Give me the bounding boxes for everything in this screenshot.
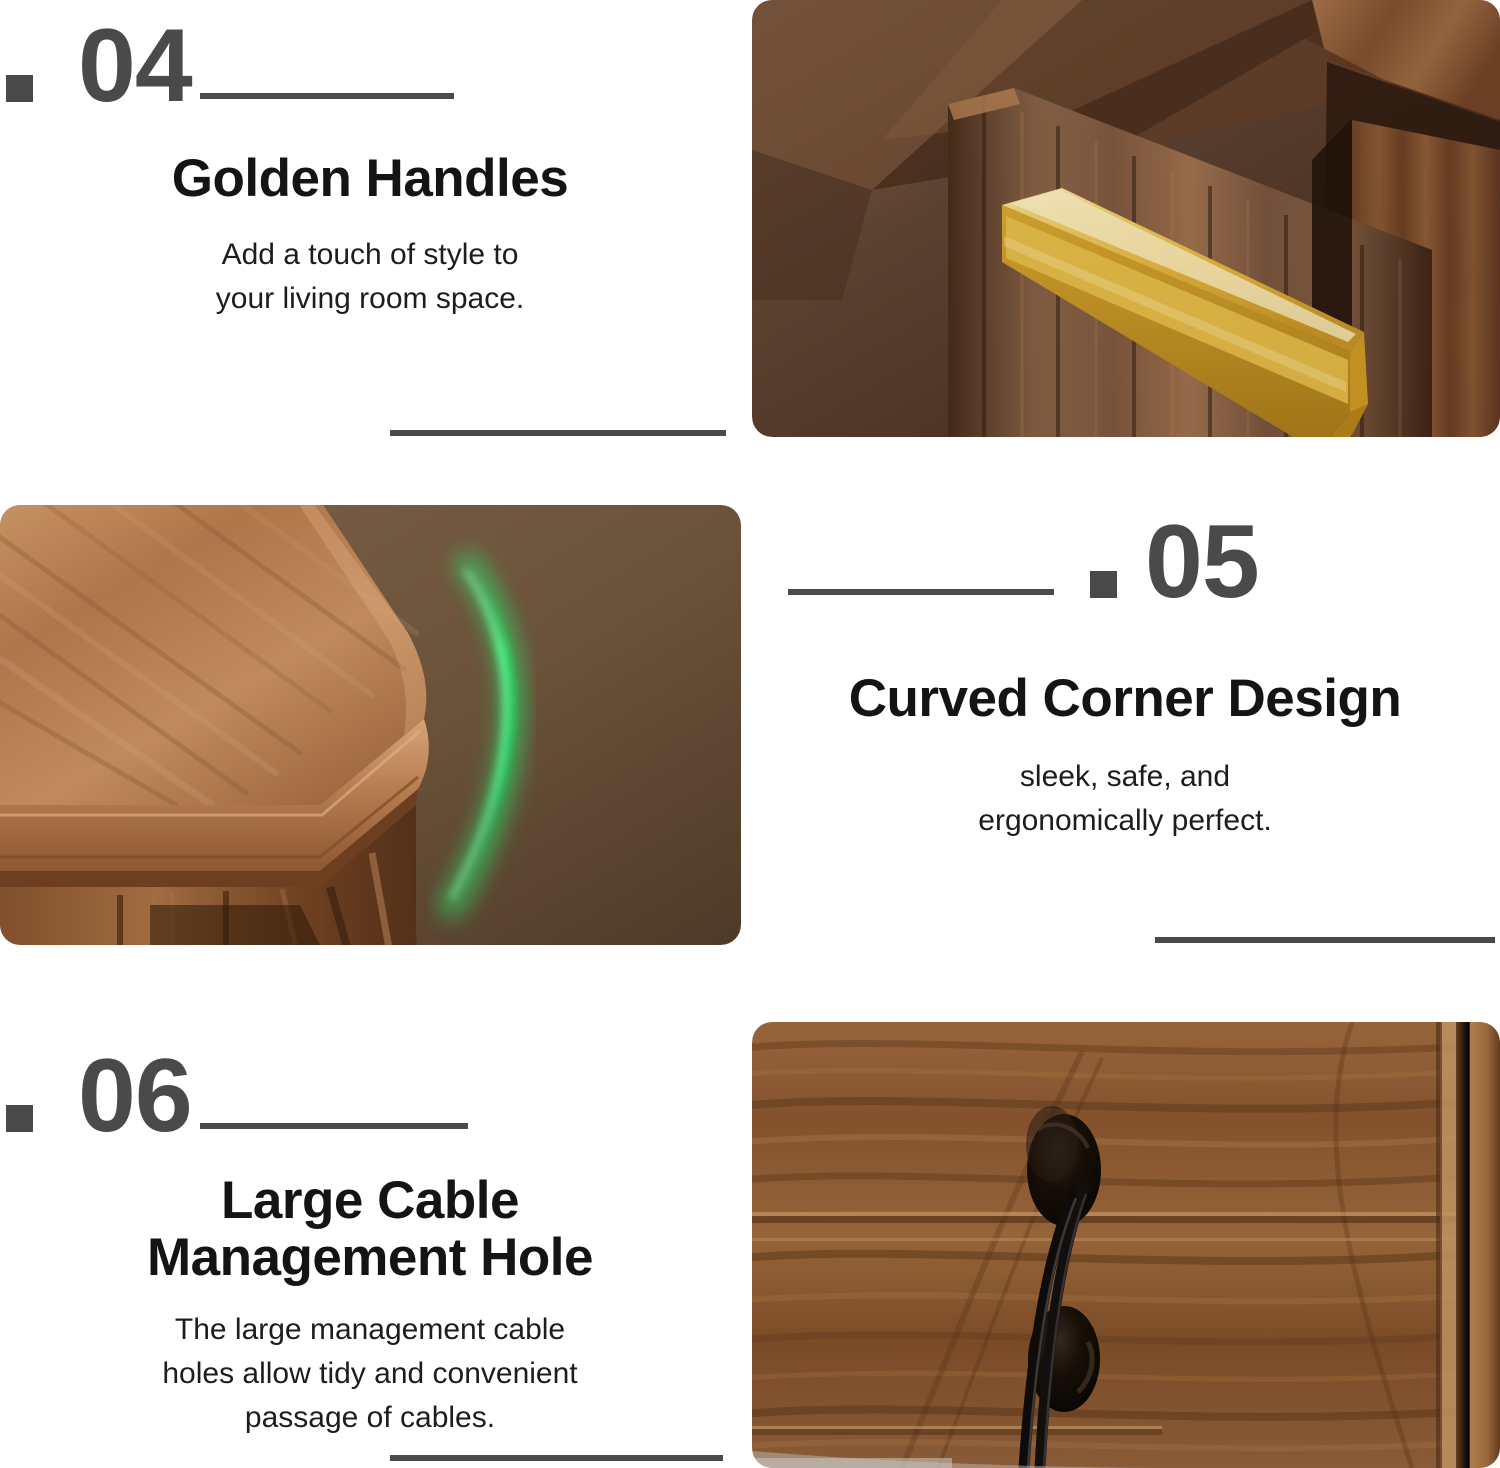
feature-text-04: Golden Handles Add a touch of style to y… [0,150,740,321]
feature-number: 04 [78,22,192,111]
square-bullet-icon [6,75,33,102]
curved-corner-photo [0,505,741,945]
feature-number: 05 [1145,518,1259,607]
feature-description: Add a touch of style to your living room… [0,233,740,321]
block-bottom-rule [390,1455,723,1461]
feature-title: Golden Handles [0,150,740,207]
feature-number: 06 [78,1052,192,1141]
square-bullet-icon [1090,571,1117,598]
feature-number-row-05: 05 [788,518,1259,607]
feature-text-05: Curved Corner Design sleek, safe, and er… [770,670,1480,843]
number-rule [200,93,454,99]
block-bottom-rule [390,430,726,436]
square-bullet-icon [6,1105,33,1132]
feature-title: Large Cable Management Hole [0,1172,740,1286]
feature-description: The large management cable holes allow t… [0,1308,740,1439]
golden-handle-photo [752,0,1500,437]
feature-text-06: Large Cable Management Hole The large ma… [0,1172,740,1440]
feature-block-04: 04 Golden Handles Add a touch of style t… [0,0,750,460]
feature-number-row-04: 04 [6,22,454,111]
feature-number-row-06: 06 [6,1052,468,1141]
cable-management-photo [752,1022,1500,1468]
number-rule [788,589,1054,595]
block-bottom-rule [1155,937,1495,943]
feature-title: Curved Corner Design [770,670,1480,727]
feature-block-06: 06 Large Cable Management Hole The large… [0,1030,750,1468]
feature-description: sleek, safe, and ergonomically perfect. [770,755,1480,843]
feature-block-05: 05 Curved Corner Design sleek, safe, and… [750,490,1500,970]
number-rule [200,1123,468,1129]
